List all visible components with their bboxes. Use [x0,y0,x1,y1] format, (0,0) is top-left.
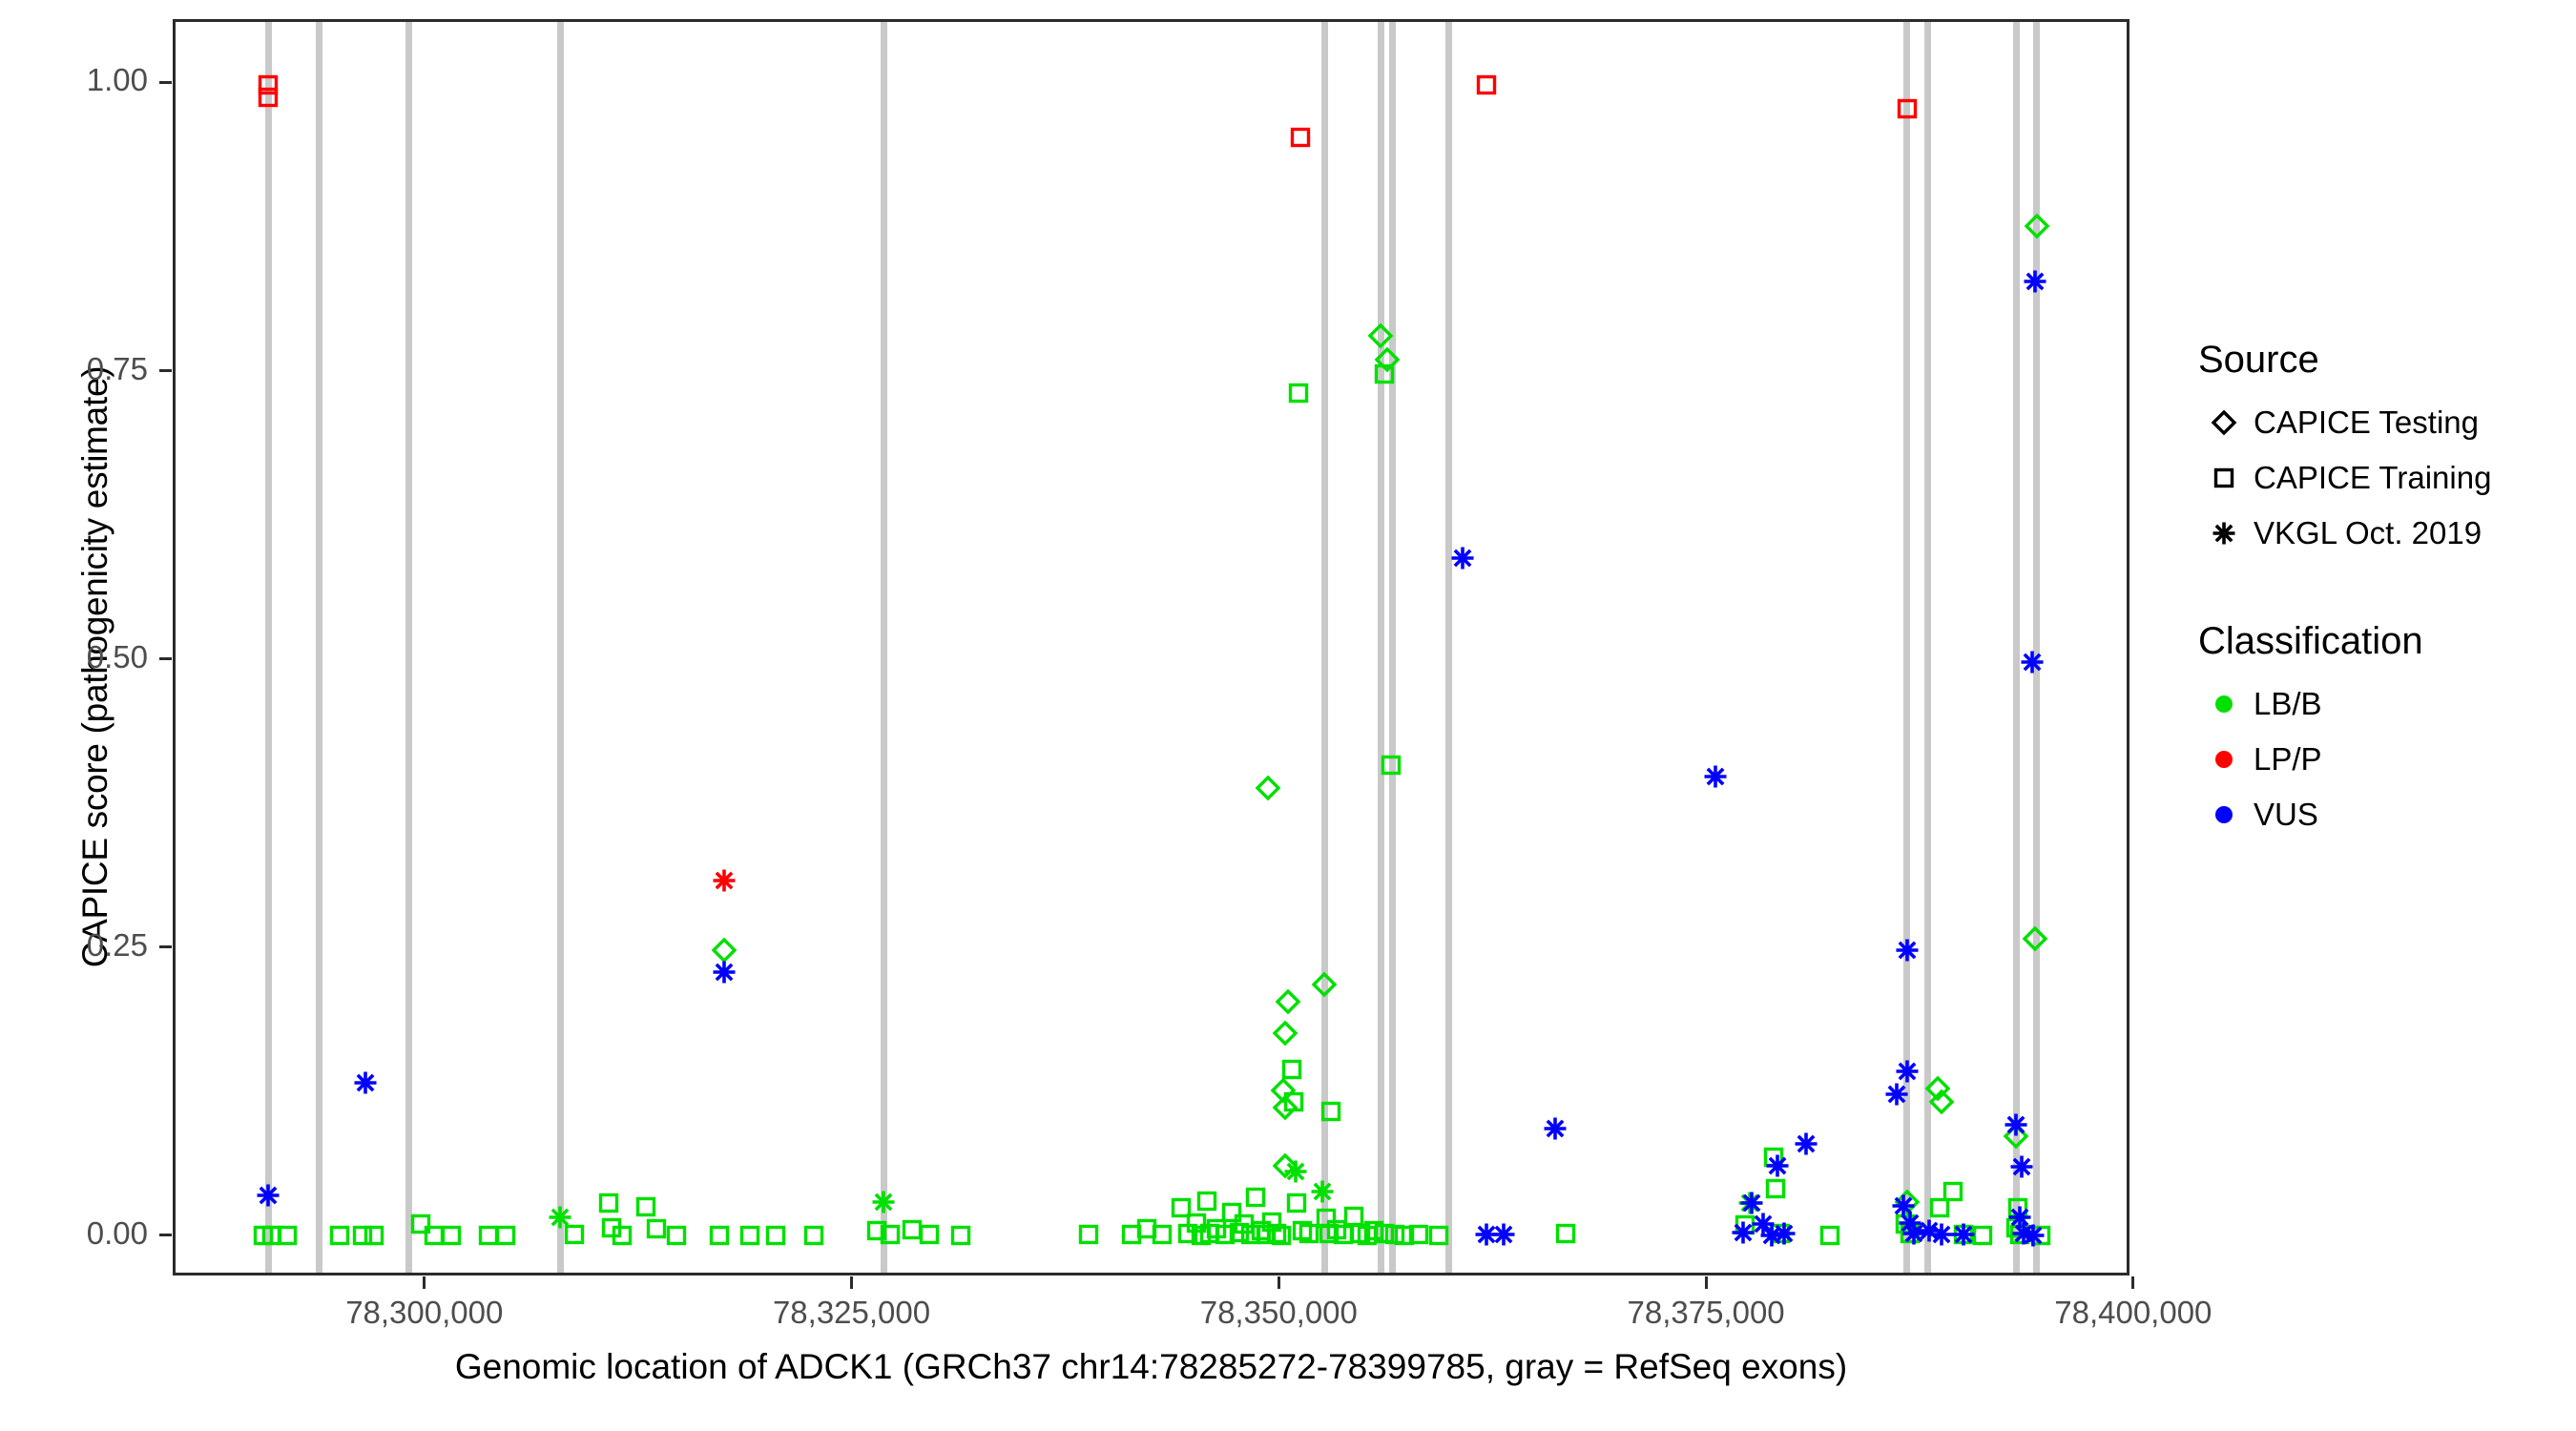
data-point-marker [1174,1219,1202,1248]
data-point-marker [1729,1218,1757,1247]
data-point-marker [1187,1221,1215,1250]
data-point-marker [1281,1157,1310,1186]
data-point-marker [800,1221,828,1250]
legend-title-source: Source [2198,339,2576,382]
data-point-marker [710,866,738,895]
data-point-marker [1286,123,1315,152]
y-tick-label: 0.00 [24,1215,148,1252]
exon-line [557,22,564,1273]
y-tick-mark [159,81,172,84]
data-point-marker [1195,1219,1224,1248]
data-point-marker [1816,1221,1844,1250]
legend-item-lb-b[interactable]: LB/B [2194,676,2576,732]
data-point-marker [594,1189,623,1217]
legend: Source CAPICE TestingCAPICE TrainingVKGL… [2194,339,2576,902]
data-point-marker [1225,1218,1254,1247]
legend-item-label: LP/P [2254,741,2322,778]
data-point-marker [1262,1219,1291,1248]
plot-panel [173,19,2129,1275]
data-point-marker [1247,1216,1276,1245]
x-tick-mark [423,1276,426,1289]
data-point-marker [1295,1219,1323,1248]
y-tick-label: 0.75 [24,351,148,387]
exon-line [1924,22,1931,1273]
x-tick-label: 78,325,000 [728,1295,976,1331]
data-point-marker [491,1221,520,1250]
data-point-marker [325,1221,354,1250]
data-point-marker [2005,1220,2034,1249]
data-point-marker [1541,1114,1569,1143]
data-point-marker [1288,1216,1317,1245]
y-tick-mark [159,657,172,660]
data-point-marker [360,1221,388,1250]
plot-area [176,22,2127,1273]
data-point-marker [1279,1088,1308,1116]
data-point-marker [632,1192,660,1221]
data-point-marker [1074,1220,1103,1249]
data-point-marker [1217,1198,1246,1227]
data-point-marker [1472,1220,1501,1249]
data-point-marker [597,1213,626,1242]
data-point-marker [474,1221,503,1250]
legend-group-source: Source CAPICE TestingCAPICE TrainingVKGL… [2194,339,2576,561]
data-point-marker [1202,1214,1231,1243]
diamond-icon [2194,408,2254,437]
legend-source-rows: CAPICE TestingCAPICE TrainingVKGL Oct. 2… [2194,395,2576,561]
data-point-marker [1274,987,1302,1016]
data-point-marker [2005,1203,2034,1232]
data-point-marker [1284,379,1313,407]
data-point-marker [1489,1220,1518,1249]
data-point-marker [1735,1189,1764,1217]
data-point-marker [736,1221,764,1250]
data-point-marker [898,1215,926,1244]
data-point-marker [1117,1220,1146,1249]
data-point-marker [1731,1211,1759,1239]
legend-item-label: CAPICE Testing [2254,404,2479,441]
data-point-marker [1282,1189,1311,1217]
data-point-marker [2026,1221,2055,1250]
exon-line [1321,22,1328,1273]
exon-line [405,22,412,1273]
data-point-marker [1346,1219,1375,1248]
data-point-marker [273,1221,301,1250]
data-point-marker [642,1214,671,1243]
x-tick-mark [2131,1276,2134,1289]
data-point-marker [1766,1219,1795,1248]
data-point-marker [1329,1220,1358,1249]
data-point-marker [1315,1219,1343,1248]
data-point-marker [1271,1093,1299,1122]
color-dot-icon [2194,690,2254,718]
legend-classification-rows: LB/BLP/PVUS [2194,676,2576,842]
data-point-marker [2018,648,2046,676]
x-tick-mark [850,1276,853,1289]
legend-item-square[interactable]: CAPICE Training [2194,450,2576,506]
data-point-marker [1193,1187,1221,1215]
data-point-marker [1278,1055,1306,1084]
data-point-marker [1211,1220,1239,1249]
data-point-marker [1761,1174,1790,1203]
legend-item-label: VKGL Oct. 2019 [2254,515,2482,551]
data-point-marker [1927,1220,1956,1249]
legend-item-diamond[interactable]: CAPICE Testing [2194,395,2576,450]
data-point-marker [1340,1202,1368,1231]
data-point-marker [1269,1076,1298,1105]
data-point-marker [662,1221,691,1250]
exon-line [1378,22,1384,1273]
data-point-marker [1241,1183,1270,1212]
data-point-marker [1448,544,1477,572]
y-tick-label: 1.00 [24,62,148,98]
data-point-marker [946,1221,975,1250]
legend-item-label: LB/B [2254,686,2322,722]
chart-root: CAPICE score (pathogenicity estimate) Ge… [0,0,2576,1431]
data-point-marker [761,1221,790,1250]
data-point-marker [1949,1220,1978,1249]
legend-item-lp-p[interactable]: LP/P [2194,732,2576,787]
data-point-marker [1182,1209,1211,1237]
exon-line [1903,22,1910,1273]
data-point-marker [1949,1220,1978,1249]
exon-line [1445,22,1452,1273]
x-tick-label: 78,350,000 [1154,1295,1402,1331]
data-point-marker [1257,1208,1286,1236]
exon-line [2013,22,2020,1273]
data-point-marker [1271,1019,1299,1047]
exon-line [881,22,887,1273]
exon-line [1389,22,1396,1273]
exon-line [2033,22,2040,1273]
data-point-marker [1404,1220,1433,1249]
data-point-marker [1968,1221,1997,1250]
data-point-marker [1701,762,1730,791]
y-tick-mark [159,369,172,372]
legend-item-label: CAPICE Training [2254,460,2491,496]
data-point-marker [1254,774,1282,802]
data-point-marker [1252,1220,1280,1249]
data-point-marker [1551,1219,1580,1248]
data-point-marker [1167,1193,1195,1222]
data-point-marker [420,1221,448,1250]
x-axis-title: Genomic location of ADCK1 (GRCh37 chr14:… [173,1347,2129,1387]
x-tick-label: 78,375,000 [1582,1295,1830,1331]
data-point-marker [1230,1210,1258,1238]
data-point-marker [1939,1177,1967,1206]
data-point-marker [608,1221,636,1250]
data-point-marker [1737,1189,1766,1217]
data-point-marker [437,1221,466,1250]
data-point-marker [1472,71,1501,99]
legend-item-vus[interactable]: VUS [2194,787,2576,842]
data-point-marker [1236,1220,1265,1249]
data-point-marker [1749,1210,1777,1238]
data-point-marker [710,936,738,964]
legend-group-classification: Classification LB/BLP/PVUS [2194,620,2576,842]
color-dot-icon [2194,745,2254,774]
data-point-marker [1770,1219,1798,1248]
data-point-marker [915,1220,944,1249]
data-point-marker [258,1221,286,1250]
data-point-marker [1896,1209,1924,1237]
data-point-marker [351,1068,380,1097]
data-point-marker [1763,1151,1792,1180]
data-point-marker [1148,1220,1176,1249]
asterisk-icon [2194,519,2254,548]
square-icon [2194,464,2254,492]
data-point-marker [249,1221,278,1250]
data-point-marker [1927,1088,1956,1116]
y-tick-label: 0.25 [24,927,148,964]
exon-line [265,22,272,1273]
data-point-marker [705,1221,734,1250]
data-point-marker [1267,1221,1296,1250]
data-point-marker [1271,1151,1299,1180]
data-point-marker [1757,1221,1786,1250]
exon-line [316,22,322,1273]
data-point-marker [1759,1143,1788,1172]
data-point-marker [348,1221,377,1250]
data-point-marker [560,1220,589,1249]
data-point-marker [1132,1214,1161,1243]
y-tick-mark [159,945,172,948]
data-point-marker [710,958,738,986]
x-tick-label: 78,300,000 [301,1295,549,1331]
y-tick-label: 0.50 [24,639,148,675]
legend-item-label: VUS [2254,797,2318,833]
y-tick-mark [159,1234,172,1236]
legend-item-asterisk[interactable]: VKGL Oct. 2019 [2194,506,2576,561]
x-tick-mark [1705,1276,1708,1289]
data-point-marker [1896,1219,1924,1248]
x-tick-label: 78,400,000 [2009,1295,2257,1331]
color-dot-icon [2194,800,2254,829]
x-tick-mark [1278,1276,1280,1289]
legend-title-classification: Classification [2198,620,2576,663]
data-point-marker [2007,1152,2036,1181]
data-point-marker [1792,1130,1820,1158]
